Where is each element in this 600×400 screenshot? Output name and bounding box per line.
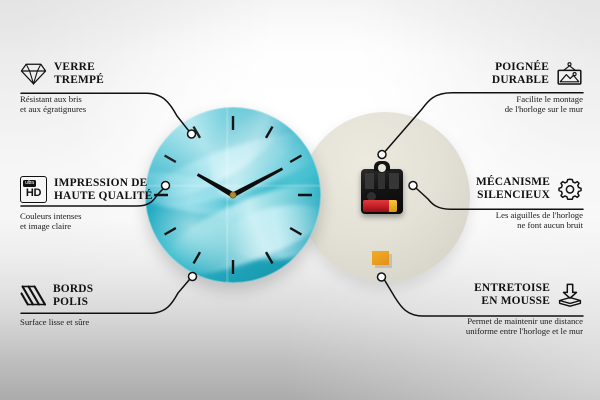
feature-description: Surface lisse et sûre [20,317,93,327]
feature-head: ENTRETOISE EN MOUSSE [400,282,583,307]
feature-desc-line2: et image claire [20,221,153,231]
feature-title-line1: IMPRESSION DE [54,177,153,190]
feature-description: Couleurs intenses et image claire [20,211,153,231]
feature-description: Permet de maintenir une distance uniform… [400,316,583,336]
feature-desc-line1: Facilite le montage [423,94,583,104]
hanging-hook [374,161,390,171]
feature-title-line2: DURABLE [492,74,549,87]
glass-reflection [145,107,321,283]
feature-title: POIGNÉE DURABLE [492,61,549,86]
feature-desc-line2: ne font aucun bruit [423,220,583,230]
feature-entretoise-en-mousse: ENTRETOISE EN MOUSSE Permet de maintenir… [400,282,583,336]
mechanism-detail [365,173,399,189]
ultra-hd-icon: ultra HD [20,176,47,203]
feature-head: VERRE TREMPÉ [20,61,104,86]
feature-title: VERRE TREMPÉ [54,61,104,86]
polished-edges-icon [20,284,46,308]
feature-description: Les aiguilles de l'horloge ne font aucun… [423,210,583,230]
feature-title-line1: BORDS [53,283,93,296]
feature-title: IMPRESSION DE HAUTE QUALITÉ [54,177,153,202]
foam-spacer-pad [372,251,389,265]
feature-impression-haute-qualite: ultra HD IMPRESSION DE HAUTE QUALITÉ Cou… [20,176,153,231]
feature-title-line1: ENTRETOISE [474,282,550,295]
feature-title-line2: HAUTE QUALITÉ [54,190,153,203]
feature-desc-line2: uniforme entre l'horloge et le mur [400,326,583,336]
feature-desc-line1: Résistant aux bris [20,94,104,104]
quartz-mechanism [361,169,403,214]
feature-head: POIGNÉE DURABLE [423,61,583,86]
ultra-hd-badge-text: ultra [23,180,36,187]
feature-head: BORDS POLIS [20,283,93,308]
feature-desc-line1: Surface lisse et sûre [20,317,93,327]
foam-spacer-icon [557,283,583,307]
feature-title-line1: VERRE [54,61,104,74]
feature-desc-line2: et aux égratignures [20,104,104,114]
clock-front-face [145,107,321,283]
feature-title: ENTRETOISE EN MOUSSE [474,282,550,307]
feature-desc-line1: Les aiguilles de l'horloge [423,210,583,220]
feature-title: MÉCANISME SILENCIEUX [476,176,550,201]
feature-description: Facilite le montage de l'horloge sur le … [423,94,583,114]
feature-head: MÉCANISME SILENCIEUX [423,176,583,201]
ultra-hd-main-text: HD [21,187,46,199]
picture-hanger-icon [556,62,583,86]
feature-desc-line1: Permet de maintenir une distance [400,316,583,326]
feature-mecanisme-silencieux: MÉCANISME SILENCIEUX Les aiguilles de l'… [423,176,583,230]
feature-title-line2: SILENCIEUX [476,189,550,202]
feature-title-line2: EN MOUSSE [474,295,550,308]
gear-icon [557,177,583,201]
feature-desc-line1: Couleurs intenses [20,211,153,221]
feature-title-line1: MÉCANISME [476,176,550,189]
feature-poignee-durable: POIGNÉE DURABLE Facilite le montage de l… [423,61,583,114]
feature-title-line1: POIGNÉE [492,61,549,74]
diamond-icon [20,63,47,85]
feature-verre-trempe: VERRE TREMPÉ Résistant aux bris et aux é… [20,61,104,114]
product-infographic: VERRE TREMPÉ Résistant aux bris et aux é… [0,0,600,400]
aa-battery [363,200,397,212]
feature-desc-line2: de l'horloge sur le mur [423,104,583,114]
feature-description: Résistant aux bris et aux égratignures [20,94,104,114]
feature-bords-polis: BORDS POLIS Surface lisse et sûre [20,283,93,327]
feature-title: BORDS POLIS [53,283,93,308]
feature-title-line2: TREMPÉ [54,74,104,87]
feature-head: ultra HD IMPRESSION DE HAUTE QUALITÉ [20,176,153,203]
feature-title-line2: POLIS [53,296,93,309]
